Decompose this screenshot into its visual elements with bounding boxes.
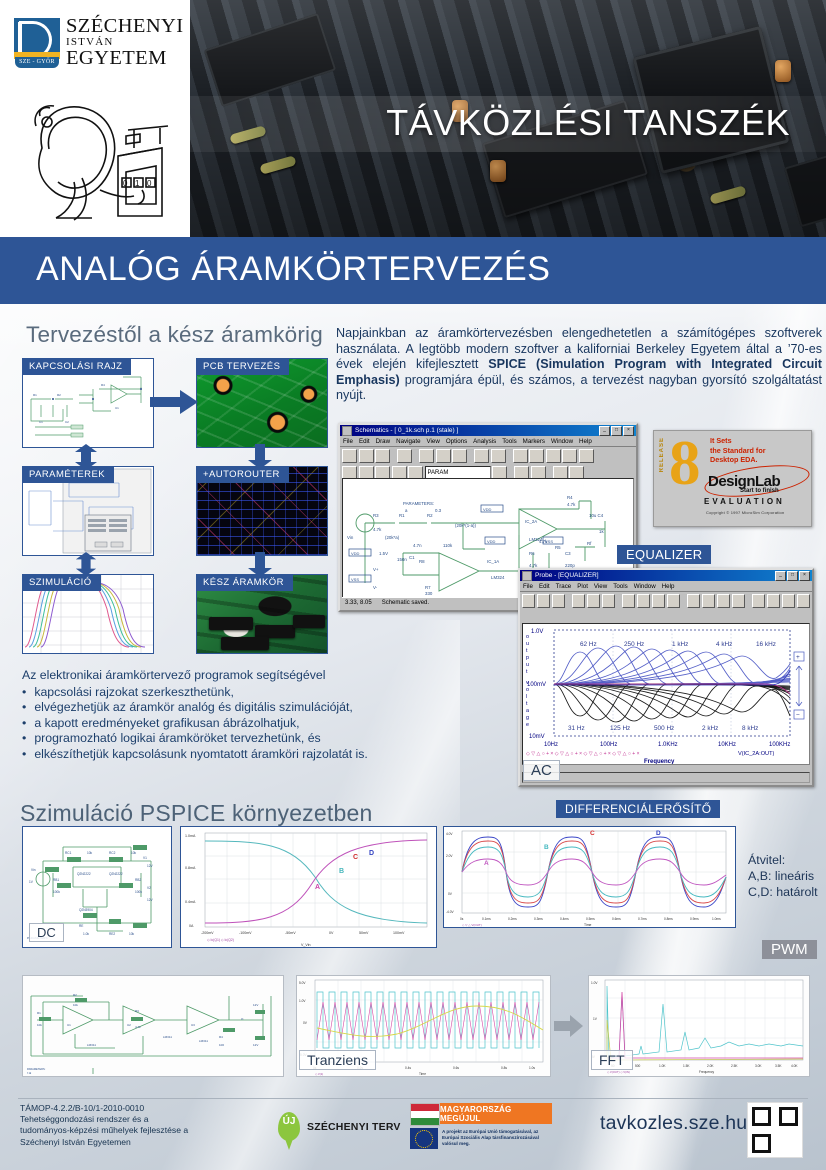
transfer-legend-heading: Átvitel: [748,852,818,868]
menu-tools[interactable]: Tools [502,438,516,445]
designlab-tagline: Start to finish [740,488,779,494]
svg-text:R6: R6 [529,551,535,556]
copy-icon[interactable] [436,449,451,463]
svg-text:LM311: LM311 [163,1035,172,1039]
zoom-area-icon[interactable] [562,449,577,463]
designlab-release-word: RELEASE [659,437,669,472]
flow-panel-kapcsolasi-rajz[interactable]: KAPCSOLÁSI RAJZ R1R2R4 C1C2U1 [22,358,154,448]
probe-cut-icon[interactable] [572,594,585,608]
svg-text:100KHz: 100KHz [769,742,790,748]
svg-text:◇ ▽ △ V(OUT): ◇ ▽ △ V(OUT) [462,923,482,927]
svg-text:◇ V(OUT) ◇ V(IN): ◇ V(OUT) ◇ V(IN) [607,1070,630,1074]
svg-text:1.0V: 1.0V [299,999,306,1003]
svg-text:a: a [526,708,529,714]
poster-canvas: SZE - GYŐR SZÉCHENYI ISTVÁN EGYETEM [0,0,826,1170]
designlab-release-number: 8 [669,433,701,493]
svg-text:Vin: Vin [347,535,354,540]
svg-text:RB2: RB2 [135,878,141,882]
pin-icon: ÚJ [278,1112,300,1141]
probe-menu-plot[interactable]: Plot [577,583,588,590]
svg-text:+: + [796,654,800,661]
svg-text:10k: 10k [129,932,135,936]
svg-text:125 Hz: 125 Hz [610,725,630,732]
sim-panel-pwm-schematic[interactable]: R110k R210k U1U2 U3R34.7k R4100 12V12V L… [22,975,284,1077]
probe-minimize-button[interactable]: _ [775,571,786,581]
probe-copy-icon[interactable] [587,594,600,608]
svg-text:12V: 12V [253,1003,258,1007]
flow-panel-label-5: SZIMULÁCIÓ [22,574,101,591]
svg-text:O: O [241,1017,244,1021]
szechenyi-terv-logo: ÚJ SZÉCHENYI TERV [278,1112,401,1141]
probe-title: Probe - [EQUALIZER] [535,572,599,579]
page-title: ANALÓG ÁRAMKÖRTERVEZÉS [0,237,826,289]
svg-text:-100mV: -100mV [239,931,252,935]
probe-zoom-area-icon[interactable] [652,594,665,608]
equalizer-badge: EQUALIZER [617,545,711,564]
probe-add-trace-icon[interactable] [752,594,765,608]
svg-text:RC1: RC1 [65,851,72,855]
svg-text:0.3ms: 0.3ms [534,917,543,921]
svg-text:0A: 0A [189,924,194,928]
dc-curve-label-b: B [339,868,344,875]
svg-text:62 Hz: 62 Hz [580,641,597,648]
sim-panel-dc-schematic[interactable]: RC110k RC210k Q2N2222Q2N2222 RB1100k RB2… [22,826,172,948]
svg-text:1.0K: 1.0K [659,1064,666,1068]
open-icon[interactable] [359,449,374,463]
svg-text:p: p [526,655,529,661]
diffamp-badge: DIFFERENCIÁLERŐSÍTŐ [556,800,720,818]
svg-text:-4.0V: -4.0V [446,910,454,914]
probe-menu-file[interactable]: File [523,583,533,590]
transfer-legend: Átvitel: A,B: lineáris C,D: határolt [748,852,818,901]
svg-text:0: 0 [147,179,152,188]
menu-options[interactable]: Options [446,438,467,445]
flow-panel-parameterek[interactable]: PARAMÉTEREK [22,466,154,556]
svg-text:v: v [526,680,529,686]
svg-text:−: − [796,712,800,719]
svg-text:R7: R7 [425,585,431,590]
svg-text:U1: U1 [67,1023,71,1027]
flow-panel-autorouter[interactable]: +AUTOROUTER [196,466,328,556]
dc-curve-label-a: A [315,884,320,891]
svg-text:R3: R3 [135,1009,139,1013]
designlab-copyright: Copyright © 1997 MicroSim Corporation [706,510,784,515]
sim-panel-transient-plot[interactable]: 5.0V1.0V0V-5.0V 0s0.2s0.4s 0.6s0.8s1.0s … [296,975,551,1077]
svg-text:0.4s: 0.4s [405,1066,411,1070]
svg-text:LM311: LM311 [199,1039,208,1043]
svg-text:1.0s: 1.0s [529,1066,535,1070]
bullet-dot: • [22,716,26,732]
project-id: TÁMOP-4.2.2/B-10/1-2010-0010 [20,1103,188,1114]
svg-text:4 kHz: 4 kHz [716,641,732,648]
svg-text:3.0K: 3.0K [755,1064,762,1068]
probe-menu-tools[interactable]: Tools [613,583,627,590]
probe-toolbar[interactable] [520,592,812,609]
menu-analysis[interactable]: Analysis [473,438,496,445]
svg-text:Frequency: Frequency [699,1070,714,1074]
svg-text:t: t [526,648,528,654]
intro-part2: programjára épül, és számos, a tervezést… [336,373,822,403]
capability-item-1: kapcsolási rajzokat szerkeszthetünk, [34,685,234,701]
svg-text:R2: R2 [73,993,77,997]
capability-item-4: programozható logikai áramköröket tervez… [34,731,320,747]
flow-panel-label-4: +AUTOROUTER [196,466,289,483]
sim-panel-diffamp-plot[interactable]: A B C D 4.0V2.0V0V-4.0V 0s0.1ms0.2ms 0.3… [443,826,736,928]
equalizer-ac-plot: 62 Hz 250 Hz 1 kHz 4 kHz 16 kHz 31 Hz 12… [523,624,809,764]
svg-text:Rf: Rf [587,541,592,546]
svg-text:110k: 110k [443,543,453,548]
svg-text:C1: C1 [409,555,415,560]
university-name: SZÉCHENYI ISTVÁN EGYETEM [66,16,186,69]
probe-scrollbar[interactable] [522,772,810,783]
svg-text:t: t [526,669,528,675]
probe-app-icon [522,571,532,581]
svg-text:LM324: LM324 [491,575,505,580]
probe-axis-settings-icon[interactable] [702,594,715,608]
svg-text:100mV: 100mV [527,682,546,688]
svg-text:IC_2A: IC_2A [525,519,537,524]
svg-text:Time: Time [584,923,592,927]
schematics-title: Schematics - [ 0_1k.sch p.1 (stale) ] [355,427,458,434]
magyarorszag-megujul-badge: MAGYARORSZÁG MEGÚJUL [440,1103,552,1124]
svg-text:R1: R1 [37,1011,41,1015]
qr-code[interactable] [748,1103,802,1157]
szechenyi-terv-mark: ÚJ [278,1116,300,1127]
diffamp-curve-label-a: A [484,860,489,867]
ac-analysis-badge: AC [523,760,560,781]
svg-text:4.7n: 4.7n [413,543,422,548]
probe-window[interactable]: Probe - [EQUALIZER] _ □ × File Edit Trac… [518,568,814,787]
department-title-band: TÁVKÖZLÉSI TANSZÉK [190,96,826,152]
draw-wire-icon[interactable] [513,449,528,463]
svg-text:0.1ms: 0.1ms [482,917,491,921]
svg-text:-50mV: -50mV [285,931,296,935]
svg-text:U1: U1 [115,406,119,410]
svg-text:10k: 10k [73,1003,78,1007]
capabilities-list: Az elektronikai áramkörtervező programok… [22,668,452,763]
designlab-evaluation: EVALUATION [704,497,785,506]
probe-trace-legend: V(IC_2A:OUT) [738,751,775,757]
probe-plot-canvas[interactable]: 62 Hz 250 Hz 1 kHz 4 kHz 16 kHz 31 Hz 12… [522,623,810,765]
svg-text:C3: C3 [565,551,571,556]
svg-text:1.0ms: 1.0ms [712,917,721,921]
new-icon[interactable] [342,449,357,463]
probe-open-icon[interactable] [522,594,535,608]
bullet-dot: • [22,700,26,716]
status-coordinates: 3.33, 8.05 [345,600,372,606]
menu-markers[interactable]: Markers [523,438,545,445]
svg-text:0.2ms: 0.2ms [508,917,517,921]
svg-text:(20k*a): (20k*a) [385,535,400,540]
svg-text:31 Hz: 31 Hz [568,725,585,732]
svg-text:1k: 1k [599,529,604,534]
svg-text:C2: C2 [65,420,69,424]
svg-text:g: g [526,715,529,721]
svg-text:LM311: LM311 [87,1043,96,1047]
schematics-menubar[interactable]: File Edit Draw Navigate View Options Ana… [340,436,636,447]
svg-text:-200mV: -200mV [201,931,214,935]
svg-text:100k: 100k [53,890,60,894]
probe-zoom-fit-icon[interactable] [667,594,680,608]
transfer-legend-line2: C,D: határolt [748,884,818,900]
status-message: Schematic saved. [382,600,429,606]
zoom-fit-icon[interactable] [579,449,594,463]
svg-text:V_Vin: V_Vin [301,943,311,947]
capability-item-2: elvégezhetjük az áramkör analóg és digit… [34,700,353,716]
svg-text:10KHz: 10KHz [718,742,736,748]
svg-text:o: o [526,687,529,693]
sze-logo-mark: SZE - GYŐR [14,18,60,68]
redo-icon[interactable] [491,449,506,463]
svg-text:150n: 150n [397,557,407,562]
schematics-toolbar-1[interactable] [340,447,636,464]
probe-zoom-out-icon[interactable] [637,594,650,608]
svg-text:8 kHz: 8 kHz [742,725,758,732]
svg-text:PARAMETERS:: PARAMETERS: [27,1067,46,1071]
svg-text:f 1k: f 1k [27,1071,32,1075]
svg-text:12V: 12V [147,898,154,902]
close-button[interactable]: × [623,426,634,436]
svg-text:1.0mA: 1.0mA [185,834,196,838]
probe-print-icon[interactable] [552,594,565,608]
svg-text:a: a [405,508,408,513]
flow-panel-kesz-aramkor[interactable]: KÉSZ ÁRAMKÖR [196,574,328,654]
designlab-badge: RELEASE 8 It Setsthe Standard forDesktop… [653,430,812,527]
bullet-dot: • [22,685,26,701]
probe-menu-trace[interactable]: Trace [556,583,572,590]
svg-text:10mV: 10mV [529,734,545,740]
hungary-flag-icon [410,1103,440,1126]
svg-text:IC_1A: IC_1A [487,559,499,564]
menu-file[interactable]: File [343,438,353,445]
svg-text:t: t [526,701,528,707]
svg-text:1 kHz: 1 kHz [672,641,688,648]
svg-text:R1: R1 [399,513,405,518]
transient-badge: Tranziens [299,1050,376,1070]
menu-draw[interactable]: Draw [376,438,390,445]
satellite-dish-illustration: 0 1 0 [22,86,174,226]
university-logo: SZE - GYŐR SZÉCHENYI ISTVÁN EGYETEM [14,18,184,74]
bullet-dot: • [22,731,26,747]
website-url[interactable]: tavkozles.sze.hu [600,1112,747,1135]
svg-text:o: o [526,634,529,640]
svg-text:Vin: Vin [31,868,36,872]
svg-text:2.5K: 2.5K [731,1064,738,1068]
probe-maximize-button[interactable]: □ [787,571,798,581]
transfer-legend-line1: A,B: lineáris [748,868,818,884]
szechenyi-terv-text: SZÉCHENYI TERV [307,1121,401,1133]
svg-text:VDD: VDD [487,539,496,544]
pwm-badge: PWM [762,940,817,959]
svg-text:12V: 12V [147,864,154,868]
menu-view[interactable]: View [427,438,440,445]
svg-text:Frequency: Frequency [644,759,675,764]
probe-menubar[interactable]: File Edit Trace Plot View Tools Window H… [520,581,812,592]
svg-text:5.0V: 5.0V [299,981,306,985]
svg-text:R1: R1 [33,393,37,397]
svg-text:PARAMETERS:: PARAMETERS: [403,501,434,506]
cut-icon[interactable] [419,449,434,463]
intro-paragraph: Napjainkban az áramkörtervezésben elenge… [336,326,822,404]
svg-text:0.7ms: 0.7ms [638,917,647,921]
svg-text:◇ Ic(Q1) ◇ Ic(Q2): ◇ Ic(Q1) ◇ Ic(Q2) [207,938,234,942]
svg-text:V2: V2 [147,886,151,890]
probe-menu-help[interactable]: Help [662,583,675,590]
svg-text:1.5K: 1.5K [683,1064,690,1068]
eu-flag-icon [410,1128,438,1149]
svg-text:◇ V(1): ◇ V(1) [315,1072,323,1076]
svg-text:4.7k: 4.7k [373,527,382,532]
project-desc-line1: Tehetséggondozási rendszer és a [20,1114,188,1125]
flow-section-heading: Tervezéstől a kész áramkörig [26,322,323,348]
university-name-line2: ISTVÁN [66,37,186,47]
sim-panel-dc-transfer-plot[interactable]: A B C D 1.0mA0.8mA0.4mA0A -200mV-100mV-5… [180,826,437,948]
flow-panel-pcb-tervezes[interactable]: PCB TERVEZÉS [196,358,328,448]
undo-icon[interactable] [474,449,489,463]
probe-label-icon[interactable] [732,594,745,608]
university-name-line3: EGYETEM [66,47,186,69]
svg-text:V1: V1 [143,856,147,860]
svg-text:1.0k: 1.0k [83,932,89,936]
svg-text:0.5ms: 0.5ms [586,917,595,921]
capability-item-3: a kapott eredményeket grafikusan ábrázol… [34,716,299,732]
paste-icon[interactable] [452,449,467,463]
probe-zoom-in-icon[interactable] [622,594,635,608]
probe-append-icon[interactable] [537,594,550,608]
svg-text:R3: R3 [373,513,379,518]
svg-text:1.0KHz: 1.0KHz [658,742,678,748]
flow-panel-szimulacio[interactable]: SZIMULÁCIÓ [22,574,154,654]
svg-text:0.4mA: 0.4mA [185,900,196,904]
svg-text:16 kHz: 16 kHz [756,641,776,648]
arrow-updown-2 [72,552,100,576]
project-info: TÁMOP-4.2.2/B-10/1-2010-0010 Tehetséggon… [20,1103,188,1148]
svg-text:0.6s: 0.6s [453,1066,459,1070]
footer-divider [18,1098,808,1099]
svg-text:VDD: VDD [483,507,492,512]
svg-text:Time: Time [419,1072,426,1076]
svg-text:1V: 1V [593,1017,598,1021]
dc-transfer-curves: A B C D 1.0mA0.8mA0.4mA0A -200mV-100mV-5… [181,827,436,947]
schematics-titlebar[interactable]: Schematics - [ 0_1k.sch p.1 (stale) ] _ … [340,425,636,436]
diffamp-curve-label-b: B [544,844,549,851]
flow-panel-label-3: PARAMÉTEREK [22,466,114,483]
svg-text:500 Hz: 500 Hz [654,725,674,732]
svg-text:1.0V: 1.0V [591,981,598,985]
svg-text:V-: V- [373,585,378,590]
svg-text:VSS: VSS [351,577,359,582]
menu-window[interactable]: Window [551,438,573,445]
svg-text:0.6ms: 0.6ms [612,917,621,921]
svg-text:500: 500 [635,1064,641,1068]
dc-curve-label-c: C [353,854,358,861]
diffamp-waveforms: A B C D 4.0V2.0V0V-4.0V 0s0.1ms0.2ms 0.3… [444,827,735,927]
svg-text:10k: 10k [37,1023,42,1027]
svg-text:4.0V: 4.0V [446,832,453,836]
svg-text:RB1: RB1 [53,878,59,882]
svg-text:100k: 100k [135,890,142,894]
svg-text:Q2N2222: Q2N2222 [109,872,123,876]
probe-performance-icon[interactable] [797,594,810,608]
logo-badge-text: SZE - GYŐR [15,57,59,68]
menu-edit[interactable]: Edit [359,438,370,445]
diffamp-curve-label-c: C [590,830,595,837]
svg-text:4.7k: 4.7k [135,1025,141,1029]
svg-text:100Hz: 100Hz [600,742,617,748]
zoom-out-icon[interactable] [546,449,561,463]
svg-text:U3: U3 [191,1023,195,1027]
svg-text:V+: V+ [373,567,379,572]
svg-text:VDD: VDD [351,551,360,556]
flow-panel-label-2: PCB TERVEZÉS [196,358,289,375]
svg-text:2.0V: 2.0V [446,854,453,858]
svg-text:330: 330 [425,591,433,596]
svg-text:3.5K: 3.5K [775,1064,782,1068]
svg-text:R4: R4 [101,383,105,387]
svg-text:4.0K: 4.0K [791,1064,798,1068]
sim-panel-fft-plot[interactable]: 1.0V1V0V 505001.0K 1.5K2.0K2.5K 3.0K3.5K… [588,975,810,1077]
probe-menu-edit[interactable]: Edit [539,583,550,590]
probe-fourier-icon[interactable] [782,594,795,608]
svg-text:R4: R4 [219,1035,223,1039]
probe-cursor-icon[interactable] [717,594,730,608]
svg-text:1: 1 [135,179,140,188]
svg-text:10u C4: 10u C4 [589,513,604,518]
probe-eval-goal-icon[interactable] [767,594,780,608]
svg-text:◇ ▽ △ ○ + × ◇ ▽ △ ○ + × ◇ ▽ △: ◇ ▽ △ ○ + × ◇ ▽ △ ○ + × ◇ ▽ △ ○ + × ◇ ▽ … [526,751,640,757]
svg-text:100: 100 [219,1043,224,1047]
flow-panel-label-1: KAPCSOLÁSI RAJZ [22,358,131,375]
probe-paste-icon[interactable] [602,594,615,608]
probe-add-plot-icon[interactable] [687,594,700,608]
minimize-button[interactable]: _ [599,426,610,436]
zoom-in-icon[interactable] [529,449,544,463]
svg-text:0.8ms: 0.8ms [664,917,673,921]
svg-text:1.0V: 1.0V [531,629,543,635]
svg-text:R4: R4 [567,495,573,500]
project-desc-line2: tudományos-képzési műhelyek fejlesztése … [20,1125,188,1136]
poster-title-bar: ANALÓG ÁRAMKÖRTERVEZÉS [0,237,826,304]
svg-text:0.4ms: 0.4ms [560,917,569,921]
probe-menu-view[interactable]: View [594,583,607,590]
fft-badge: FFT [591,1050,633,1070]
svg-text:0.8mA: 0.8mA [185,866,196,870]
svg-text:100mV: 100mV [393,931,405,935]
svg-text:RE: RE [79,924,83,928]
menu-navigate[interactable]: Navigate [396,438,420,445]
svg-text:50mV: 50mV [359,931,369,935]
svg-text:U2: U2 [127,1023,131,1027]
probe-menu-window[interactable]: Window [634,583,656,590]
probe-close-button[interactable]: × [799,571,810,581]
svg-text:0V: 0V [329,931,334,935]
save-icon[interactable] [375,449,390,463]
maximize-button[interactable]: □ [611,426,622,436]
bullet-dot: • [22,747,26,763]
probe-titlebar[interactable]: Probe - [EQUALIZER] _ □ × [520,570,812,581]
department-title: TÁVKÖZLÉSI TANSZÉK [190,96,826,150]
designlab-claim: It Setsthe Standard forDesktop EDA. [710,436,766,465]
print-icon[interactable] [397,449,412,463]
svg-text:0V: 0V [303,1021,308,1025]
svg-text:1V: 1V [29,880,34,884]
svg-text:0.3: 0.3 [435,508,442,513]
svg-text:0V: 0V [448,892,453,896]
svg-text:Q2N3904: Q2N3904 [79,908,93,912]
svg-text:u: u [526,662,529,668]
menu-help[interactable]: Help [579,438,592,445]
svg-text:u: u [526,641,529,647]
